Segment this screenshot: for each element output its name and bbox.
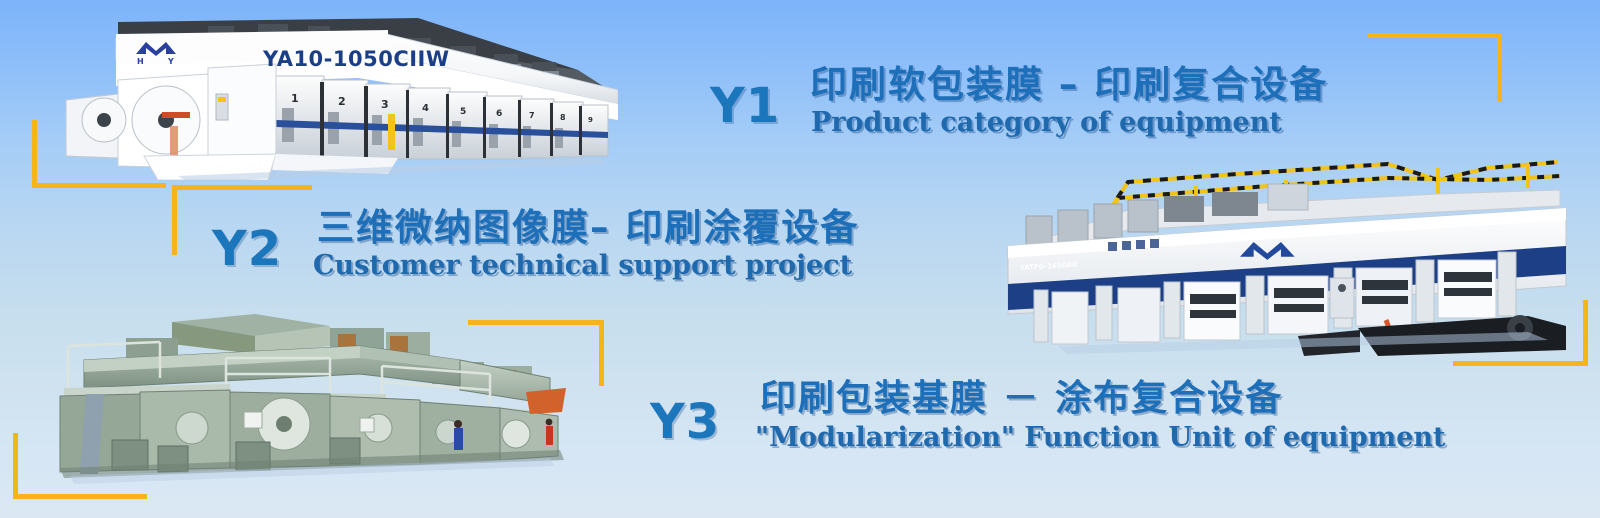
- bracket-y2-horizontal: [172, 185, 312, 190]
- entry-y1-chinese-heading: 印刷软包装膜 – 印刷复合设备: [810, 65, 1328, 105]
- bracket-top-right-vertical: [1497, 33, 1502, 101]
- entry-y3-chinese-heading: 印刷包装基膜 － 涂布复合设备: [760, 380, 1283, 419]
- machine-rotogravure-printing-press: H Y 1 2: [58, 8, 618, 180]
- entry-y1-code: Y1: [710, 82, 780, 130]
- entry-y2-code: Y2: [212, 225, 282, 273]
- bracket-top-left-vertical: [32, 120, 37, 188]
- entry-y2-chinese-heading: 三维微纳图像膜– 印刷涂覆设备: [317, 208, 859, 248]
- machine-coating-laminating-machine: YATFG-1650BII: [968, 150, 1568, 365]
- svg-text:H: H: [137, 57, 144, 66]
- bracket-bottom-right-vertical: [1583, 300, 1588, 366]
- svg-text:1: 1: [291, 92, 299, 105]
- bracket-middle-horizontal: [468, 320, 604, 325]
- svg-text:6: 6: [496, 109, 502, 119]
- entry-y3-english-subheading: "Modularization" Function Unit of equipm…: [755, 424, 1446, 452]
- worker-figure-red: [546, 419, 553, 445]
- bracket-top-left-horizontal: [32, 183, 166, 188]
- svg-text:2: 2: [338, 95, 346, 108]
- bracket-bottom-left-horizontal: [13, 494, 147, 499]
- svg-text:3: 3: [381, 98, 389, 111]
- worker-figure-blue: [454, 420, 463, 450]
- bracket-middle-vertical: [599, 320, 604, 386]
- entry-y1-english-subheading: Product category of equipment: [811, 109, 1282, 137]
- svg-text:4: 4: [422, 103, 429, 114]
- bracket-bottom-left-vertical: [13, 433, 18, 499]
- banner-root: H Y 1 2: [0, 0, 1600, 518]
- svg-text:9: 9: [588, 116, 593, 124]
- entry-y3-code: Y3: [650, 398, 720, 446]
- svg-text:5: 5: [460, 107, 466, 117]
- svg-text:8: 8: [560, 113, 566, 122]
- bracket-bottom-right-horizontal: [1453, 361, 1588, 366]
- bracket-y2-vertical: [172, 185, 177, 255]
- machine-1-model-label: YA10-1050CIIW: [263, 47, 450, 71]
- entry-y2-english-subheading: Customer technical support project: [313, 252, 852, 280]
- svg-text:7: 7: [529, 111, 535, 120]
- bracket-top-right-horizontal: [1368, 33, 1502, 38]
- machine-coating-production-line: [30, 300, 575, 490]
- svg-text:Y: Y: [167, 57, 174, 66]
